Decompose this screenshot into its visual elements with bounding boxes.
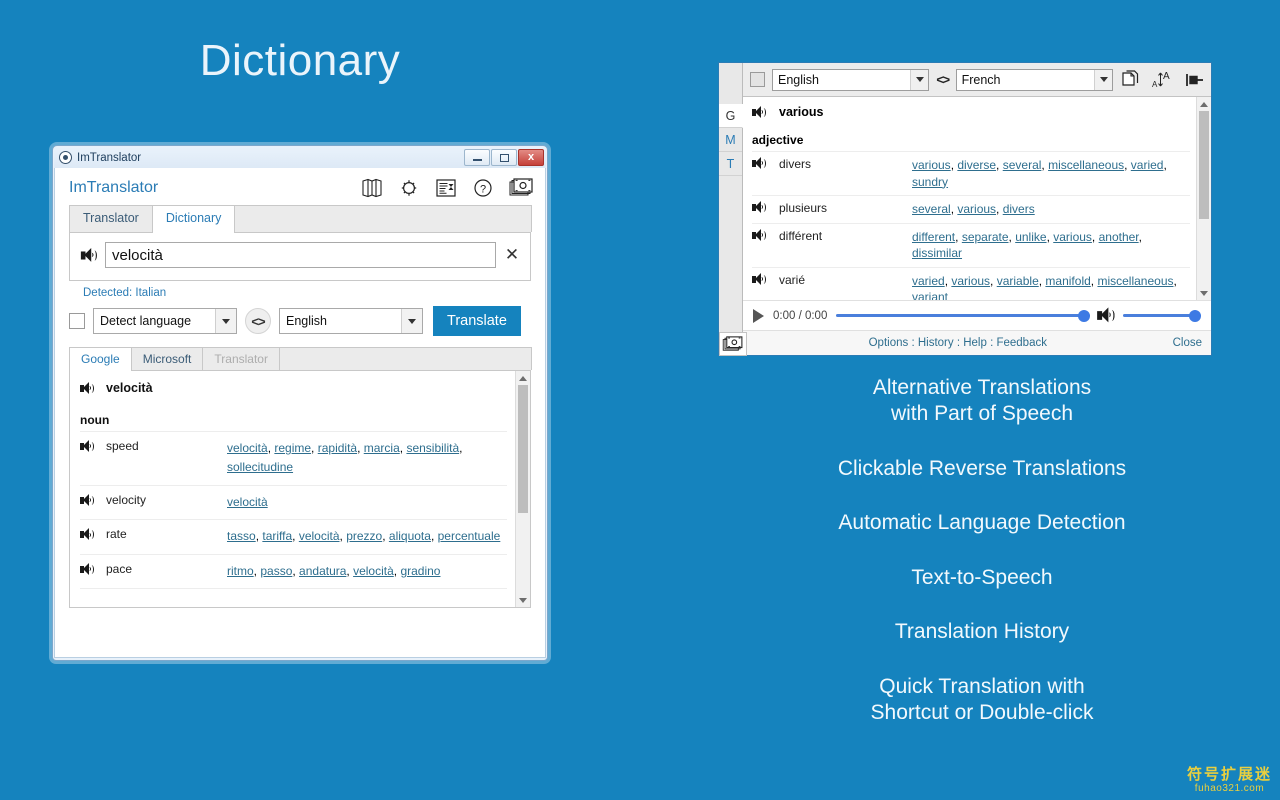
window-titlebar: ImTranslator x xyxy=(54,147,546,168)
reverse-translation-link[interactable]: sundry xyxy=(912,175,948,189)
provider-tabs: Google Microsoft Translator xyxy=(69,346,531,371)
minimize-button[interactable] xyxy=(464,149,490,166)
main-tabs: Translator Dictionary xyxy=(69,206,531,233)
entry-translations[interactable]: different, separate, unlike, various, an… xyxy=(912,229,1190,262)
speaker-icon[interactable] xyxy=(752,201,767,214)
scroll-up-icon[interactable] xyxy=(1197,97,1211,111)
reverse-translation-link[interactable]: various xyxy=(1053,230,1092,244)
reverse-translation-link[interactable]: manifold xyxy=(1045,274,1090,288)
feature-list: Alternative Translationswith Part of Spe… xyxy=(720,375,1244,727)
swap-languages-button[interactable]: <> xyxy=(245,308,271,334)
scrollbar-thumb[interactable] xyxy=(1199,111,1209,219)
entry-translations[interactable]: velocità, regime, rapidità, marcia, sens… xyxy=(227,439,507,478)
auto-checkbox[interactable] xyxy=(69,313,85,329)
provider-tab-google[interactable]: Google xyxy=(69,347,132,371)
target-language-select[interactable]: English xyxy=(279,308,423,334)
reverse-translation-link[interactable]: miscellaneous xyxy=(1097,274,1173,288)
reverse-translation-link[interactable]: separate xyxy=(962,230,1009,244)
feature-item: Alternative Translationswith Part of Spe… xyxy=(720,375,1244,428)
translate-button[interactable]: Translate xyxy=(433,306,521,336)
reverse-translation-link[interactable]: tariffa xyxy=(262,529,292,543)
reverse-translation-link[interactable]: variable xyxy=(997,274,1039,288)
speaker-icon[interactable] xyxy=(752,106,767,119)
table-row: varié varied, various, variable, manifol… xyxy=(752,268,1190,300)
footer-separator: : xyxy=(908,337,918,349)
headword-label: various xyxy=(779,105,823,119)
copy-icon[interactable] xyxy=(1120,70,1140,90)
gear-icon[interactable] xyxy=(398,178,420,198)
speaker-icon[interactable] xyxy=(80,563,95,576)
vertical-scrollbar[interactable] xyxy=(1196,97,1211,300)
close-icon: x xyxy=(528,152,534,163)
target-language-value: French xyxy=(962,73,1001,87)
headword-row: velocità xyxy=(80,381,507,409)
provider-tab-microsoft[interactable]: Microsoft xyxy=(131,347,204,370)
chevron-down-icon[interactable] xyxy=(401,309,422,333)
app-header: ImTranslator ? xyxy=(69,178,531,206)
vtab-translator[interactable]: T xyxy=(719,152,742,176)
reverse-translation-link[interactable]: aliquota xyxy=(389,529,431,543)
watermark-line-2: fuhao321.com xyxy=(1187,783,1272,794)
svg-text:?: ? xyxy=(480,184,486,196)
reverse-translation-link[interactable]: percentuale xyxy=(438,529,501,543)
reverse-translation-link[interactable]: another xyxy=(1099,230,1139,244)
vtab-google[interactable]: G xyxy=(719,104,743,128)
reverse-translation-link[interactable]: velocità xyxy=(227,441,268,455)
reverse-translation-link[interactable]: miscellaneous xyxy=(1048,158,1124,172)
audio-player: 0:00 / 0:00 xyxy=(743,300,1211,330)
tab-translator[interactable]: Translator xyxy=(69,205,153,232)
footer-link-history[interactable]: History xyxy=(918,337,954,349)
reverse-translation-link[interactable]: velocità xyxy=(299,529,340,543)
part-of-speech-label: adjective xyxy=(752,133,1190,152)
entry-translations[interactable]: ritmo, passo, andatura, velocità, gradin… xyxy=(227,562,507,581)
table-row: rate tasso, tariffa, velocità, prezzo, a… xyxy=(80,520,507,554)
detected-language-label: Detected: Italian xyxy=(69,281,531,306)
entry-term: varié xyxy=(767,273,912,287)
reverse-translation-link[interactable]: andatura xyxy=(299,564,346,578)
headword-row: various xyxy=(752,105,1190,133)
chevron-down-icon[interactable] xyxy=(215,309,236,333)
entry-term: rate xyxy=(95,527,227,541)
entry-translations[interactable]: varied, various, variable, manifold, mis… xyxy=(912,273,1190,300)
auto-checkbox[interactable] xyxy=(750,72,765,87)
app-toolbar: ? xyxy=(361,178,531,198)
feature-item: Quick Translation withShortcut or Double… xyxy=(720,674,1244,727)
entry-term: divers xyxy=(767,157,912,171)
tabs-filler xyxy=(234,205,532,232)
popup-toolbar-icons: AA xyxy=(1120,70,1204,90)
pin-icon[interactable] xyxy=(1182,71,1204,89)
footer-separator: : xyxy=(954,337,964,349)
dictionary-result-pane: velocità noun speed velocità, regime, ra… xyxy=(69,371,531,608)
reverse-translation-link[interactable]: prezzo xyxy=(346,529,382,543)
table-row: divers various, diverse, several, miscel… xyxy=(752,152,1190,196)
reverse-translation-link[interactable]: variant xyxy=(912,290,948,300)
reverse-translation-link[interactable]: ritmo xyxy=(227,564,254,578)
svg-text:A: A xyxy=(1163,71,1170,82)
entry-translations[interactable]: tasso, tariffa, velocità, prezzo, aliquo… xyxy=(227,527,507,546)
reverse-translation-link[interactable]: several xyxy=(912,202,951,216)
entry-translations[interactable]: several, various, divers xyxy=(912,201,1190,218)
source-language-select[interactable]: English xyxy=(772,69,929,91)
reverse-translation-link[interactable]: passo xyxy=(260,564,292,578)
reverse-translation-link[interactable]: gradino xyxy=(400,564,440,578)
imtranslator-window: ImTranslator x ImTranslator ? xyxy=(52,145,548,661)
reverse-translation-link[interactable]: various xyxy=(951,274,990,288)
entry-term: différent xyxy=(767,229,912,243)
speaker-icon[interactable] xyxy=(80,382,95,395)
reverse-translation-link[interactable]: dissimilar xyxy=(912,246,962,260)
source-language-value: Detect language xyxy=(100,314,191,328)
provider-tabs-filler xyxy=(279,347,532,370)
popup-footer: Options : History : Help : Feedback Clos… xyxy=(743,330,1211,355)
entry-term: velocity xyxy=(95,493,227,507)
chevron-down-icon[interactable] xyxy=(910,70,928,90)
scroll-down-icon[interactable] xyxy=(516,593,530,607)
watermark: 符号扩展迷 fuhao321.com xyxy=(1187,767,1272,795)
reverse-translation-link[interactable]: several xyxy=(1003,158,1042,172)
volume-icon[interactable] xyxy=(1097,307,1116,323)
reverse-translation-link[interactable]: regime xyxy=(274,441,311,455)
search-input[interactable]: velocità xyxy=(105,242,496,268)
play-icon[interactable] xyxy=(753,309,764,323)
target-language-value: English xyxy=(286,314,327,328)
speaker-icon[interactable] xyxy=(80,440,95,453)
footer-close-link[interactable]: Close xyxy=(1173,337,1202,349)
webcam-icon[interactable] xyxy=(509,178,531,198)
scroll-up-icon[interactable] xyxy=(516,371,530,385)
watermark-line-1: 符号扩展迷 xyxy=(1187,767,1272,784)
reverse-translation-link[interactable]: different xyxy=(912,230,955,244)
seek-slider[interactable] xyxy=(836,309,1090,323)
clear-icon[interactable]: ✕ xyxy=(504,245,520,265)
speaker-icon[interactable] xyxy=(752,157,767,170)
feature-item: Clickable Reverse Translations xyxy=(720,456,1244,482)
maximize-button[interactable] xyxy=(491,149,517,166)
reverse-translation-link[interactable]: divers xyxy=(1003,202,1035,216)
search-area: velocità ✕ xyxy=(69,233,531,281)
player-time: 0:00 / 0:00 xyxy=(773,310,827,322)
table-row: velocity velocità xyxy=(80,486,507,520)
help-icon[interactable]: ? xyxy=(472,178,494,198)
entry-term: plusieurs xyxy=(767,201,912,215)
reverse-translation-link[interactable]: varied xyxy=(1131,158,1164,172)
close-button[interactable]: x xyxy=(518,149,544,166)
popup-body: various adjective divers various, divers… xyxy=(743,97,1211,300)
page-title: Dictionary xyxy=(0,36,600,86)
speaker-icon[interactable] xyxy=(81,248,98,263)
window-controls: x xyxy=(464,149,544,166)
reverse-translation-link[interactable]: various xyxy=(912,158,951,172)
scroll-down-icon[interactable] xyxy=(1197,286,1211,300)
swap-languages-button[interactable]: <> xyxy=(936,72,948,87)
source-language-select[interactable]: Detect language xyxy=(93,308,237,334)
speaker-icon[interactable] xyxy=(80,528,95,541)
footer-link-help[interactable]: Help xyxy=(963,337,987,349)
entry-term: speed xyxy=(95,439,227,453)
app-name-label: ImTranslator xyxy=(69,179,158,197)
reverse-translation-link[interactable]: sensibilità xyxy=(406,441,459,455)
webcam-icon[interactable] xyxy=(719,332,747,356)
font-size-icon[interactable]: AA xyxy=(1150,70,1172,90)
scrollbar-track[interactable] xyxy=(516,385,530,593)
part-of-speech-label: noun xyxy=(80,409,507,432)
entry-term: pace xyxy=(95,562,227,576)
book-icon[interactable] xyxy=(361,178,383,198)
source-language-value: English xyxy=(778,73,819,87)
speaker-icon[interactable] xyxy=(80,494,95,507)
dictionary-result-list: velocità noun speed velocità, regime, ra… xyxy=(70,371,515,607)
tab-dictionary[interactable]: Dictionary xyxy=(152,205,236,233)
scrollbar-track[interactable] xyxy=(1197,111,1211,286)
chevron-down-icon[interactable] xyxy=(1094,70,1112,90)
vtab-microsoft[interactable]: M xyxy=(719,128,742,152)
window-client-area: ImTranslator ? Translator xyxy=(54,168,546,658)
speaker-icon[interactable] xyxy=(752,229,767,242)
reverse-translation-link[interactable]: velocità xyxy=(353,564,394,578)
svg-text:A: A xyxy=(1152,80,1158,89)
reverse-translation-link[interactable]: velocità xyxy=(227,495,268,509)
entry-translations[interactable]: various, diverse, several, miscellaneous… xyxy=(912,157,1190,190)
popup-result-list: various adjective divers various, divers… xyxy=(743,97,1196,300)
reverse-translation-link[interactable]: rapidità xyxy=(318,441,357,455)
reverse-translation-link[interactable]: tasso xyxy=(227,529,256,543)
vertical-scrollbar[interactable] xyxy=(515,371,530,607)
footer-links: Options : History : Help : Feedback xyxy=(743,337,1173,349)
footer-link-options[interactable]: Options xyxy=(869,337,909,349)
footer-link-feedback[interactable]: Feedback xyxy=(996,337,1047,349)
imtranslator-popup-window: G M T English <> French xyxy=(718,62,1212,356)
table-row: pace ritmo, passo, andatura, velocità, g… xyxy=(80,555,507,589)
entry-translations[interactable]: velocità xyxy=(227,493,507,512)
history-icon[interactable] xyxy=(435,178,457,198)
reverse-translation-link[interactable]: varied xyxy=(912,274,945,288)
headword-label: velocità xyxy=(106,381,153,395)
feature-item: Text-to-Speech xyxy=(720,565,1244,591)
volume-slider[interactable] xyxy=(1123,309,1201,323)
app-logo-icon xyxy=(59,151,72,164)
reverse-translation-link[interactable]: unlike xyxy=(1015,230,1046,244)
reverse-translation-link[interactable]: diverse xyxy=(957,158,996,172)
table-row: speed velocità, regime, rapidità, marcia… xyxy=(80,432,507,486)
table-row: différent different, separate, unlike, v… xyxy=(752,224,1190,268)
table-row: plusieurs several, various, divers xyxy=(752,196,1190,224)
scrollbar-thumb[interactable] xyxy=(518,385,528,513)
feature-item: Automatic Language Detection xyxy=(720,510,1244,536)
target-language-select[interactable]: French xyxy=(956,69,1113,91)
popup-toolbar: English <> French AA xyxy=(743,63,1211,97)
speaker-icon[interactable] xyxy=(752,273,767,286)
feature-item: Translation History xyxy=(720,619,1244,645)
provider-vertical-tabs: G M T xyxy=(719,63,743,355)
reverse-translation-link[interactable]: various xyxy=(957,202,996,216)
reverse-translation-link[interactable]: sollecitudine xyxy=(227,460,293,474)
provider-tab-translator[interactable]: Translator xyxy=(202,347,280,370)
window-title: ImTranslator xyxy=(77,152,464,164)
reverse-translation-link[interactable]: marcia xyxy=(364,441,400,455)
language-selection-row: Detect language <> English Translate xyxy=(69,306,531,346)
